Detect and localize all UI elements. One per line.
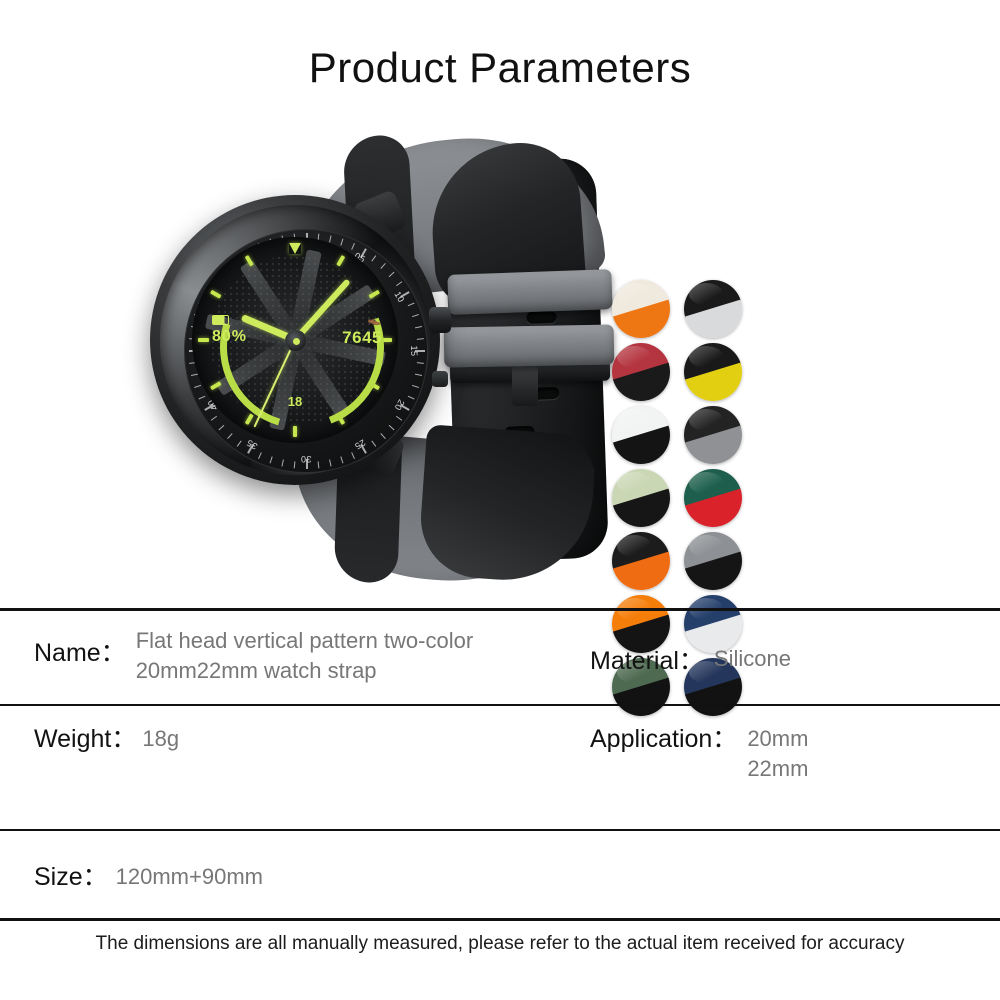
strap-keeper-upper: [447, 269, 612, 315]
strap-keeper-lower: [444, 325, 615, 368]
table-row: Weight： 18g Application： 20mm 22mm: [0, 706, 1000, 829]
color-swatch-black-orange[interactable]: [612, 532, 670, 590]
bezel-tick: [417, 338, 424, 340]
date-complication: 18: [281, 394, 309, 409]
bezel-tick: [389, 425, 395, 430]
color-swatch-sage-black[interactable]: [612, 469, 670, 527]
bezel-number: 20: [392, 398, 406, 413]
spec-cell-name: Name： Flat head vertical pattern two-col…: [34, 611, 564, 704]
spec-label-material: Material：: [590, 611, 704, 677]
color-swatch-red-black[interactable]: [612, 343, 670, 401]
strap-hole: [526, 311, 556, 324]
bezel-tick: [417, 362, 424, 364]
dial-hour-marker: [245, 413, 254, 425]
bezel-tick: [412, 314, 419, 317]
spec-label-name: Name：: [34, 611, 126, 669]
spec-label-weight: Weight：: [34, 706, 136, 755]
spec-cell-application: Application： 20mm 22mm: [564, 706, 1000, 829]
bezel-number: 35: [245, 437, 260, 451]
table-row: Size： 120mm+90mm: [0, 831, 1000, 918]
color-swatch-black-yellow[interactable]: [684, 343, 742, 401]
bezel-tick: [371, 255, 376, 261]
buckle-tongue: [512, 366, 538, 406]
table-row: Name： Flat head vertical pattern two-col…: [0, 611, 1000, 704]
spec-cell-size: Size： 120mm+90mm: [34, 831, 564, 918]
watch-case: 051015202530354045505560 80% 👞 7645: [150, 195, 440, 485]
dial-hour-marker: [210, 290, 222, 299]
bezel-tick: [294, 461, 296, 468]
bezel-number: 10: [392, 290, 406, 305]
bezel-tick: [194, 385, 201, 388]
bezel-tick: [371, 441, 376, 447]
bezel-tick: [237, 441, 242, 447]
bezel-tick: [396, 416, 402, 421]
table-rule-bottom: [0, 918, 1000, 921]
spec-cell-empty: [564, 831, 1000, 918]
bezel-tick: [318, 461, 320, 468]
watch-pusher: [432, 371, 448, 387]
bezel-tick: [227, 433, 232, 439]
color-swatch-black-white[interactable]: [684, 280, 742, 338]
bezel-tick: [380, 263, 385, 269]
bezel-tick: [396, 281, 402, 286]
bezel-tick: [408, 303, 415, 307]
hands-center-cap: [285, 330, 307, 352]
color-swatch-grey-black[interactable]: [684, 532, 742, 590]
bezel-tick: [211, 416, 217, 421]
bezel-tick: [329, 459, 331, 466]
dial-hour-marker: [198, 338, 209, 342]
bezel-tick: [415, 374, 422, 376]
color-swatch-black-grey[interactable]: [684, 406, 742, 464]
steps-value: 7645: [342, 328, 382, 347]
bezel-tick: [340, 456, 343, 463]
watch-crown: [429, 307, 451, 333]
bezel-number: 30: [300, 454, 311, 464]
strap-bottom-black: [417, 424, 597, 585]
battery-icon: [212, 315, 229, 325]
bezel-tick: [340, 239, 343, 246]
bezel-tick: [380, 433, 385, 439]
bezel-tick: [258, 452, 262, 459]
page-title: Product Parameters: [0, 44, 1000, 92]
dial-hour-marker: [336, 255, 345, 267]
bezel-tick: [281, 459, 283, 466]
bezel-tick: [218, 425, 224, 430]
battery-value: 80%: [212, 328, 247, 345]
watch-dial: 80% 👞 7645 18: [192, 237, 398, 443]
bezel-tick: [389, 272, 395, 277]
spec-value-name: Flat head vertical pattern two-color 20m…: [126, 611, 474, 685]
spec-table: Name： Flat head vertical pattern two-col…: [0, 608, 1000, 921]
bezel-tick: [408, 396, 415, 400]
spec-label-size: Size：: [34, 831, 108, 893]
spec-value-size: 120mm+90mm: [108, 831, 263, 892]
spec-value-application: 20mm 22mm: [737, 706, 808, 783]
bezel-number: 15: [409, 345, 419, 356]
dial-hour-marker: [289, 243, 301, 254]
bezel-tick: [270, 456, 273, 463]
spec-label-application: Application：: [590, 706, 737, 755]
spec-value-material: Silicone: [704, 611, 791, 674]
shoe-icon: 👞: [342, 315, 382, 326]
spec-cell-material: Material： Silicone: [564, 611, 1000, 704]
product-hero: 051015202530354045505560 80% 👞 7645: [0, 130, 1000, 590]
watch-product-image: 051015202530354045505560 80% 👞 7645: [150, 140, 610, 580]
spec-value-weight: 18g: [136, 706, 179, 754]
color-swatch-cream-orange[interactable]: [612, 280, 670, 338]
measurement-disclaimer: The dimensions are all manually measured…: [0, 933, 1000, 955]
color-swatch-green-red[interactable]: [684, 469, 742, 527]
color-swatch-white-black[interactable]: [612, 406, 670, 464]
bezel-tick: [351, 243, 355, 250]
bezel-tick: [198, 396, 205, 400]
bezel-tick: [329, 235, 331, 242]
bezel-tick: [415, 326, 422, 328]
bezel-tick: [412, 385, 419, 388]
steps-complication: 👞 7645: [342, 315, 382, 348]
bezel-tick: [351, 452, 355, 459]
spec-cell-weight: Weight： 18g: [34, 706, 564, 829]
